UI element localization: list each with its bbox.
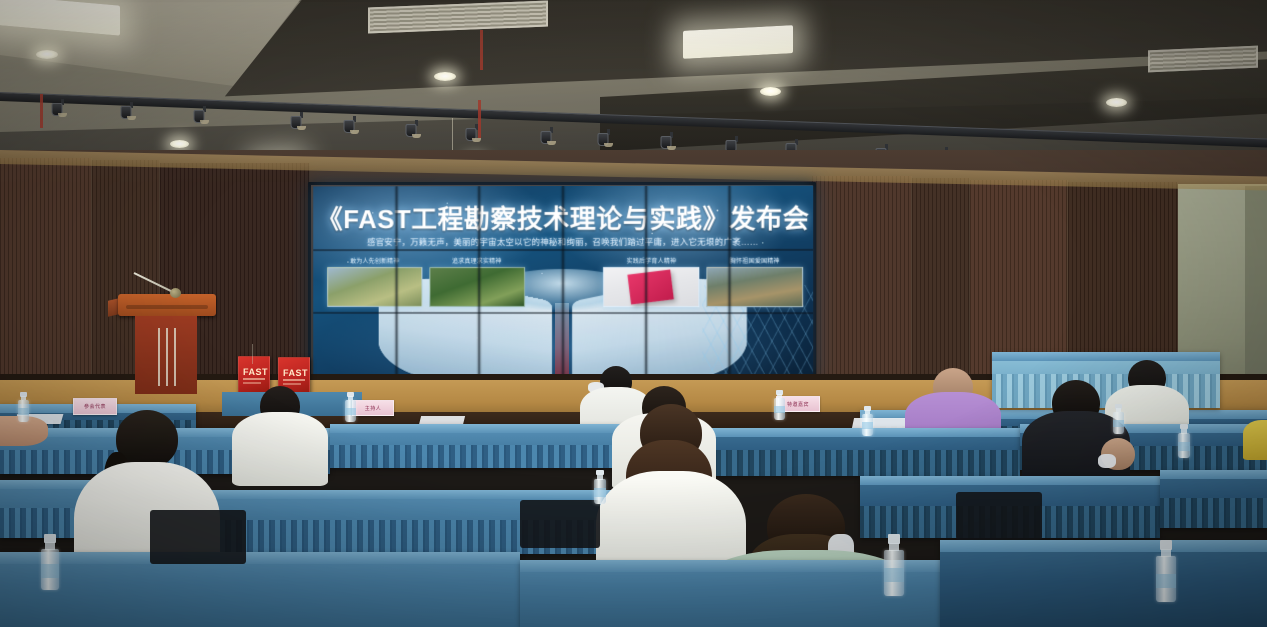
screen-bezel-v3	[562, 186, 564, 376]
track-spotlight-9	[602, 129, 615, 148]
bottle-label	[884, 568, 904, 583]
screen-bezel-v5	[729, 186, 731, 377]
water-bottle-9[interactable]	[1156, 540, 1176, 602]
screen-thumbnail-2: 追求真理求实精神	[429, 256, 525, 307]
downlight-4	[1106, 98, 1127, 107]
downlight-2	[434, 72, 456, 81]
video-wall-display[interactable]: 《FAST工程勘察技术理论与实践》发布会 感官安宁，万籁无声，美丽的宇宙太空以它…	[313, 186, 813, 377]
attendee-torso	[232, 412, 328, 486]
wall-wood-panel-1	[0, 158, 92, 406]
table-edge	[1160, 470, 1267, 479]
thumbnail-caption-1: 敢为人先创新精神	[327, 256, 422, 265]
table-edge	[520, 560, 940, 572]
water-bottle-10[interactable]	[594, 470, 606, 504]
water-bottle-5[interactable]	[1113, 404, 1124, 434]
screen-bezel-v4	[645, 186, 647, 376]
face-mask	[1098, 454, 1116, 468]
book-cover-rule-1	[243, 378, 265, 380]
table-row1-center	[330, 424, 640, 468]
downlight-1	[36, 50, 58, 59]
ceiling-red-pipe-mid	[478, 100, 481, 138]
wall-wood-panel-4	[812, 176, 912, 402]
book-cover-title-2: FAST	[283, 368, 308, 378]
wall-green-far	[1245, 186, 1267, 404]
water-bottle-3[interactable]	[774, 390, 785, 420]
podium-rod-1	[158, 328, 160, 386]
microphone-head-icon	[170, 288, 181, 298]
thumbnail-caption-4: 胸怀祖国爱国精神	[706, 256, 803, 265]
water-bottle-4[interactable]	[862, 406, 873, 436]
track-spotlight-8	[545, 127, 558, 146]
screen-bezel-h2	[313, 312, 813, 314]
table-skirt	[1160, 498, 1267, 528]
screen-thumbnail-1: 敢为人先创新精神	[327, 256, 422, 307]
bottle-label	[1156, 574, 1176, 589]
table-skirt	[330, 445, 640, 468]
placard-text-right: 特邀嘉宾	[787, 401, 809, 408]
bottle-label	[41, 564, 59, 577]
podium-cable	[252, 344, 253, 364]
track-spotlight-4	[295, 112, 308, 131]
bottle-label	[862, 422, 873, 429]
panel-light-right	[683, 25, 793, 59]
table-edge	[150, 490, 650, 499]
track-spotlight-1	[56, 99, 69, 118]
chair-back-3	[956, 492, 1042, 540]
table-row3-front-left	[0, 552, 520, 627]
placard-text-center: 主持人	[365, 405, 382, 412]
thumbnail-caption-2: 追求真理求实精神	[429, 256, 525, 265]
table-row2-far-right	[1160, 470, 1267, 528]
thumbnail-image-2	[429, 267, 525, 307]
bottle-label	[1178, 442, 1190, 450]
attendee-torso	[1243, 420, 1267, 460]
bottle-label	[594, 488, 606, 496]
placard-text-left: 参会代表	[84, 403, 106, 410]
track-spotlight-7	[470, 124, 483, 143]
attendee-right-edge-yellow	[1243, 420, 1267, 460]
screen-bezel-v1	[396, 186, 398, 375]
thumbnail-image-1	[327, 267, 422, 307]
screen-bezel-h1	[313, 249, 813, 251]
podium-top-surface	[118, 294, 216, 316]
conference-hall-photo: 《FAST工程勘察技术理论与实践》发布会 感官安宁，万籁无声，美丽的宇宙太空以它…	[0, 0, 1267, 627]
bottle-label	[774, 406, 785, 413]
thumbnail-caption-3: 实践后学育人精神	[603, 256, 699, 265]
book-cover-rule-2b	[283, 383, 301, 385]
podium-rod-3	[174, 328, 176, 386]
water-bottle-7[interactable]	[41, 534, 59, 590]
thumbnail-image-4	[706, 267, 803, 307]
name-placard-center: 主持人	[352, 400, 394, 416]
screen-thumbnail-4: 胸怀祖国爱国精神	[706, 256, 803, 307]
water-bottle-2[interactable]	[345, 392, 356, 422]
track-spotlight-2	[125, 102, 138, 121]
track-spotlight-5	[348, 116, 361, 135]
water-bottle-8[interactable]	[884, 534, 904, 596]
water-bottle-1[interactable]	[18, 392, 29, 422]
handout-paper-3	[852, 418, 910, 428]
bottle-label	[345, 408, 356, 415]
table-row3-front-right	[520, 560, 940, 627]
chair-back-1	[150, 510, 246, 564]
screen-thumbnail-3: 实践后学育人精神	[603, 256, 699, 307]
track-spotlight-10	[665, 132, 678, 151]
attendee-right-mask-mid	[1076, 438, 1160, 508]
water-bottle-6[interactable]	[1178, 424, 1190, 458]
screen-thumbnail-row: 敢为人先创新精神 追求真理求实精神 实践后学育人精神 胸怀祖国爱国精神	[327, 256, 803, 318]
track-spotlight-6	[410, 120, 423, 139]
speaker-podium[interactable]	[118, 294, 216, 394]
table-row3-front-far-right	[940, 540, 1267, 627]
table-edge	[0, 552, 520, 564]
screen-bezel-v2	[478, 186, 480, 376]
book-cover-rule-1b	[243, 382, 261, 384]
table-edge	[330, 424, 640, 433]
thumbnail-image-3	[603, 267, 699, 307]
bottle-label	[18, 408, 29, 415]
downlight-3	[760, 87, 781, 96]
ceiling-red-pipe-right	[480, 30, 483, 70]
book-cover-title-1: FAST	[243, 367, 268, 377]
podium-rod-2	[166, 328, 168, 386]
downlight-5	[170, 140, 189, 148]
table-edge	[940, 540, 1267, 552]
track-spotlight-3	[198, 106, 211, 125]
ceiling-red-pipe-left	[40, 94, 43, 128]
bottle-label	[1113, 420, 1124, 427]
book-cover-rule-2	[283, 379, 305, 381]
chair-back-2	[520, 500, 600, 548]
attendee-2-ponytail	[232, 386, 328, 486]
